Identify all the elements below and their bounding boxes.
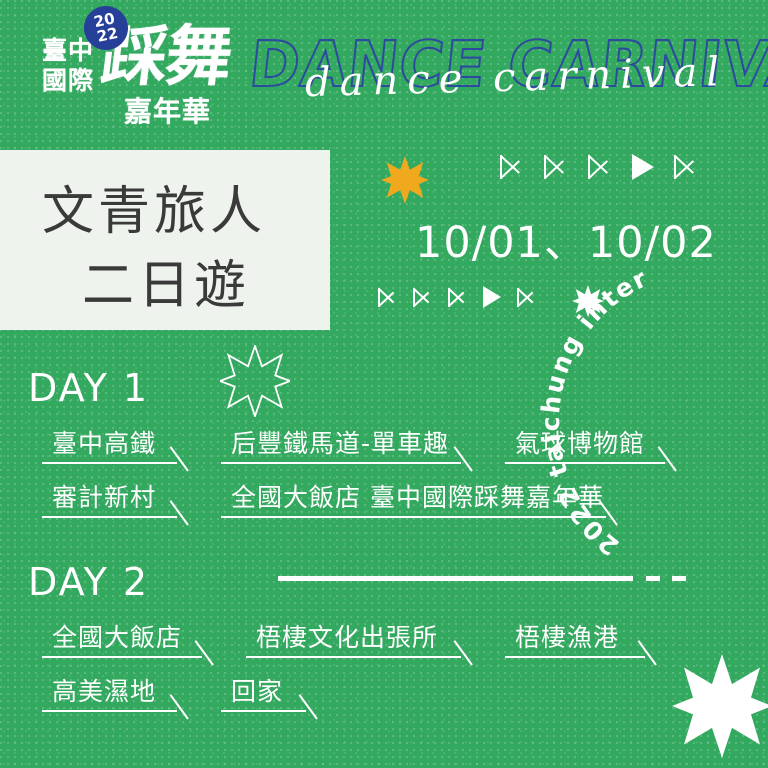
logo-text-international: 國際 bbox=[42, 68, 94, 93]
title-card: 文青旅人 二日遊 bbox=[0, 150, 330, 330]
star-outline-icon bbox=[220, 345, 290, 417]
triangle-bottom-outline-2-icon bbox=[413, 288, 432, 307]
itinerary-stop-label: 梧棲文化出張所 bbox=[256, 618, 438, 654]
itinerary-stop[interactable]: 氣球博物館 bbox=[505, 424, 665, 472]
itinerary-stop[interactable]: 后豐鐵馬道-單車趣 bbox=[221, 424, 461, 472]
itinerary-underline bbox=[246, 656, 461, 658]
title-line-2: 二日遊 bbox=[82, 260, 250, 312]
itinerary-stop[interactable]: 高美濕地 bbox=[42, 672, 177, 720]
triangle-top-outline-3-icon bbox=[588, 155, 612, 179]
triangle-bottom-outline-5-icon bbox=[517, 288, 536, 307]
triangle-row-top bbox=[500, 154, 698, 180]
itinerary-underline bbox=[221, 710, 306, 712]
itinerary-stop[interactable]: 臺中高鐵 bbox=[42, 424, 177, 472]
itinerary-arrow-tick bbox=[454, 446, 473, 471]
event-logo: 臺中 國際 踩舞 嘉年華 20 22 bbox=[28, 10, 248, 125]
itinerary-underline bbox=[42, 516, 177, 518]
itinerary-stop-label: 后豐鐵馬道-單車趣 bbox=[231, 424, 449, 460]
itinerary-stop-label: 審計新村 bbox=[52, 478, 156, 514]
itinerary-arrow-tick bbox=[170, 446, 189, 471]
wordmark: DANCE CARNIVAL dance carnival bbox=[250, 28, 768, 120]
itinerary-arrow-tick bbox=[170, 500, 189, 525]
triangle-bottom-outline-1-icon bbox=[378, 288, 397, 307]
star-white-large-icon bbox=[672, 654, 768, 758]
itinerary-stop[interactable]: 梧棲文化出張所 bbox=[246, 618, 461, 666]
poster-canvas: 臺中 國際 踩舞 嘉年華 20 22 DANCE CARNIVAL dance … bbox=[0, 0, 768, 768]
day-2-rule-decoration bbox=[278, 576, 678, 581]
itinerary-stop-label: 氣球博物館 bbox=[515, 424, 645, 460]
rule-dash-1 bbox=[646, 576, 660, 581]
rule-dash-2 bbox=[672, 576, 686, 581]
triangle-top-filled-4-icon bbox=[632, 154, 654, 180]
rule-segment-long bbox=[278, 576, 633, 581]
itinerary-stop[interactable]: 審計新村 bbox=[42, 478, 177, 526]
itinerary-stop[interactable]: 梧棲漁港 bbox=[505, 618, 645, 666]
itinerary-stop-label: 回家 bbox=[231, 672, 283, 708]
itinerary-arrow-tick bbox=[454, 640, 473, 665]
itinerary-arrow-tick bbox=[638, 640, 657, 665]
logo-text-carnival: 嘉年華 bbox=[124, 98, 211, 126]
triangle-top-outline-5-icon bbox=[674, 155, 698, 179]
itinerary-underline bbox=[505, 462, 665, 464]
arc-text-decoration: 2022 taichung inter bbox=[608, 268, 768, 558]
itinerary-stop[interactable]: 回家 bbox=[221, 672, 306, 720]
day-1-label: DAY 1 bbox=[28, 366, 149, 410]
itinerary-underline bbox=[42, 462, 177, 464]
itinerary-underline bbox=[42, 710, 177, 712]
itinerary-arrow-tick bbox=[170, 694, 189, 719]
itinerary-underline bbox=[221, 462, 461, 464]
triangle-bottom-filled-4-icon bbox=[483, 286, 501, 308]
itinerary-underline bbox=[42, 656, 202, 658]
itinerary-stop-label: 全國大飯店 bbox=[52, 618, 182, 654]
itinerary-stop[interactable]: 全國大飯店 bbox=[42, 618, 202, 666]
triangle-top-outline-1-icon bbox=[500, 155, 524, 179]
logo-year-badge: 20 22 bbox=[80, 2, 132, 54]
triangle-top-outline-2-icon bbox=[544, 155, 568, 179]
star-orange-icon bbox=[381, 156, 429, 204]
itinerary-underline bbox=[221, 516, 606, 518]
itinerary-stop-label: 高美濕地 bbox=[52, 672, 156, 708]
title-line-1: 文青旅人 bbox=[42, 186, 266, 238]
itinerary-stop[interactable]: 全國大飯店 臺中國際踩舞嘉年華 bbox=[221, 478, 606, 526]
itinerary-underline bbox=[505, 656, 645, 658]
itinerary-stop-label: 梧棲漁港 bbox=[515, 618, 619, 654]
triangle-bottom-outline-3-icon bbox=[448, 288, 467, 307]
itinerary-arrow-tick bbox=[299, 694, 318, 719]
day-2-label: DAY 2 bbox=[28, 560, 149, 604]
itinerary-stop-label: 臺中高鐵 bbox=[52, 424, 156, 460]
itinerary-stop-label: 全國大飯店 臺中國際踩舞嘉年華 bbox=[231, 478, 604, 514]
triangle-row-bottom bbox=[378, 286, 536, 308]
itinerary-arrow-tick bbox=[195, 640, 214, 665]
event-dates: 10/01、10/02 bbox=[415, 208, 717, 270]
